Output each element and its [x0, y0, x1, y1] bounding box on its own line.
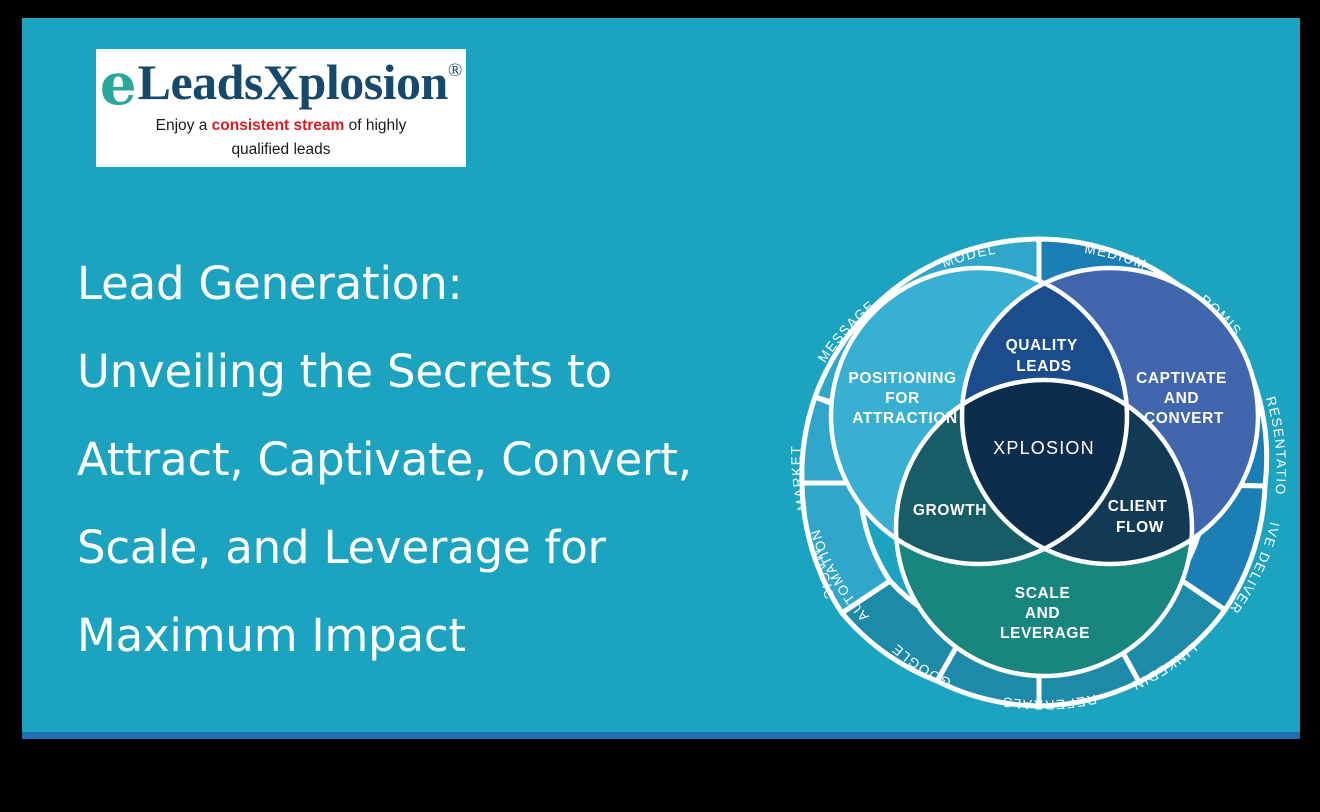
logo-wordmark-row: e LeadsXplosion ®	[106, 57, 456, 112]
logo-tagline-highlight: consistent stream	[212, 117, 345, 134]
headline-line-2: Unveiling the Secrets to	[77, 328, 757, 416]
logo-tagline: Enjoy a consistent stream of highly qual…	[156, 114, 407, 161]
slide-canvas: e LeadsXplosion ® Enjoy a consistent str…	[22, 18, 1300, 738]
headline-line-3: Attract, Captivate, Convert,	[77, 416, 757, 504]
logo-wordmark-text: LeadsXplosion	[138, 57, 448, 107]
slide-headline: Lead Generation: Unveiling the Secrets t…	[77, 240, 757, 680]
leadsxplosion-logo: e LeadsXplosion ® Enjoy a consistent str…	[96, 49, 466, 167]
slide-bottom-accent-strip	[22, 732, 1300, 739]
headline-line-1: Lead Generation:	[77, 240, 757, 328]
logo-tagline-part2: of highly	[344, 117, 406, 134]
logo-e-icon: e	[100, 57, 137, 112]
headline-line-4: Scale, and Leverage for	[77, 504, 757, 592]
venn-label-xplosion: XPLOSION	[993, 438, 1095, 458]
lead-generation-venn-diagram: MARKET MESSAGE MODEL MEDIUM PROMISE AND …	[757, 198, 1320, 728]
logo-tagline-line2: qualified leads	[231, 141, 330, 158]
registered-trademark-icon: ®	[448, 61, 462, 80]
headline-line-5: Maximum Impact	[77, 592, 757, 680]
venn-label-growth: GROWTH	[913, 502, 987, 519]
logo-tagline-part1: Enjoy a	[156, 117, 212, 134]
